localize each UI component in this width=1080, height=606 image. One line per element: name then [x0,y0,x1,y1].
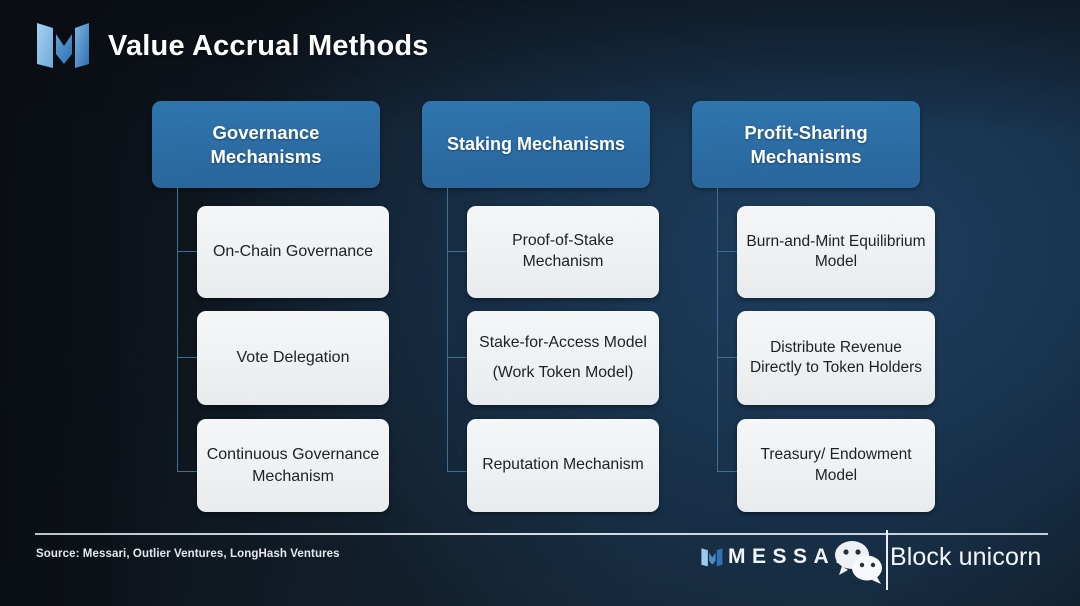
diagram-node-label: Reputation Mechanism [482,455,644,476]
diagram-node-label: Burn-and-Mint Equilibrium Model [746,232,926,273]
connector-trunk [177,188,178,472]
diagram-node-primary-text: Stake-for-Access Model [479,333,647,354]
diagram-node[interactable]: Proof-of-Stake Mechanism [467,206,659,298]
diagram-node[interactable]: Treasury/ Endowment Model [737,419,935,512]
messari-m-logo-icon [34,20,90,72]
diagram-node-label: Stake-for-Access Model (Work Token Model… [479,333,647,384]
column-header-box[interactable]: Staking Mechanisms [422,101,650,188]
source-note: Source: Messari, Outlier Ventures, LongH… [36,548,340,560]
diagram-node[interactable]: Continuous Governance Mechanism [197,419,389,512]
diagram-node-label: Distribute Revenue Directly to Token Hol… [746,338,926,379]
diagram-node-label: Continuous Governance Mechanism [206,444,380,486]
diagram-node-label: On-Chain Governance [213,241,373,262]
footer-vertical-separator [886,530,888,590]
connector-trunk [717,188,718,472]
slide-canvas: Value Accrual Methods Governance Mechani… [0,0,1080,606]
column-header-label: Governance Mechanisms [162,121,370,168]
diagram-node[interactable]: Vote Delegation [197,311,389,405]
column-header-label: Profit-Sharing Mechanisms [702,121,910,168]
page-title: Value Accrual Methods [108,30,429,63]
diagram-node[interactable]: Distribute Revenue Directly to Token Hol… [737,311,935,405]
slide-header: Value Accrual Methods [34,20,429,72]
diagram-node[interactable]: Burn-and-Mint Equilibrium Model [737,206,935,298]
diagram-node[interactable]: Reputation Mechanism [467,419,659,512]
diagram-node-label: Proof-of-Stake Mechanism [476,231,650,273]
diagram-node-sub-text: (Work Token Model) [479,363,647,384]
messari-m-logo-icon [700,547,723,568]
footer-divider [35,533,1048,535]
diagram-node-label: Treasury/ Endowment Model [746,445,926,486]
connector-trunk [447,188,448,472]
column-header-box[interactable]: Governance Mechanisms [152,101,380,188]
diagram-node[interactable]: On-Chain Governance [197,206,389,298]
publisher-name: Block unicorn [890,543,1041,572]
value-accrual-diagram: Governance Mechanisms On-Chain Governanc… [0,0,1080,606]
column-header-box[interactable]: Profit-Sharing Mechanisms [692,101,920,188]
wechat-icon [833,539,885,584]
diagram-node[interactable]: Stake-for-Access Model (Work Token Model… [467,311,659,405]
column-header-label: Staking Mechanisms [447,133,625,156]
diagram-node-label: Vote Delegation [237,347,350,368]
